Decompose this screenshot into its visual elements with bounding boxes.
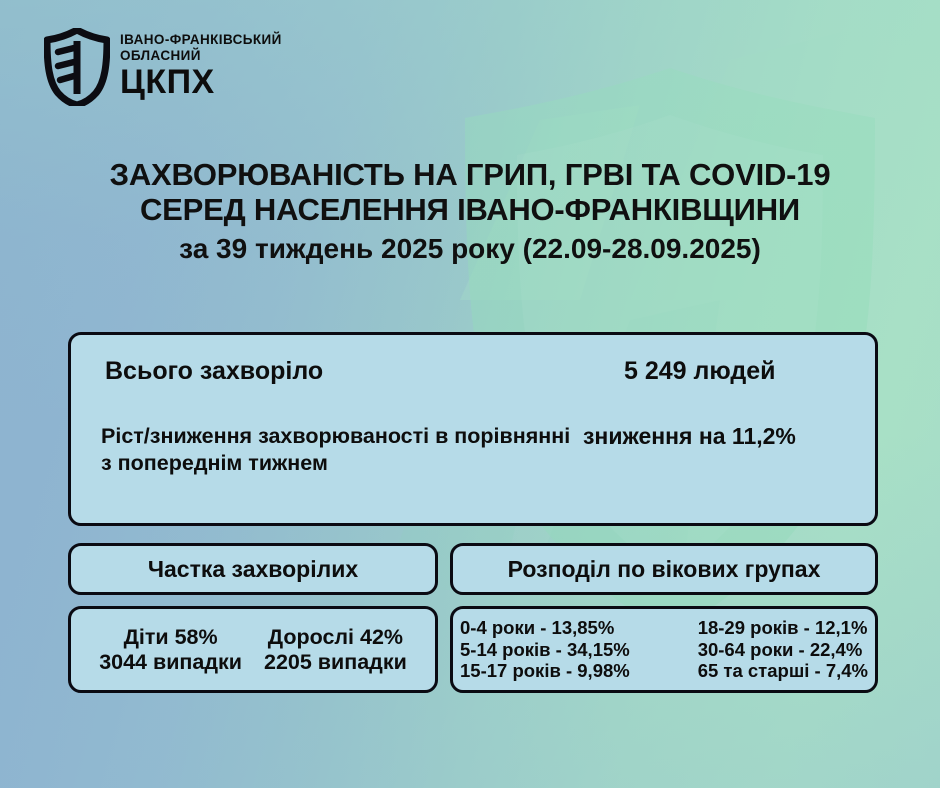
share-children: Діти 58% 3044 випадки [99, 625, 242, 673]
age-item: 18-29 років - 12,1% [698, 617, 868, 638]
share-section-header: Частка захворілих [68, 543, 438, 595]
adults-cases: 2205 випадки [264, 650, 407, 674]
title-line-2: СЕРЕД НАСЕЛЕННЯ ІВАНО-ФРАНКІВЩИНИ [0, 193, 940, 228]
trend-label: Ріст/зниження захворюваності в порівнянн… [101, 423, 571, 476]
total-cases-row: Всього захворіло 5 249 людей [71, 349, 875, 393]
logo-line-2: ОБЛАСНИЙ [120, 48, 282, 64]
children-percent: Діти 58% [99, 625, 242, 649]
page-title: ЗАХВОРЮВАНІСТЬ НА ГРИП, ГРВІ ТА COVID-19… [0, 158, 940, 265]
summary-panel: Всього захворіло 5 249 людей Ріст/знижен… [68, 332, 878, 526]
age-groups-column-left: 0-4 роки - 13,85% 5-14 років - 34,15% 15… [460, 617, 630, 681]
ages-section-header: Розподіл по вікових групах [450, 543, 878, 595]
logo-line-1: ІВАНО-ФРАНКІВСЬКИЙ [120, 32, 282, 48]
share-grid: Діти 58% 3044 випадки Дорослі 42% 2205 в… [99, 625, 407, 673]
age-item: 15-17 років - 9,98% [460, 660, 630, 681]
logo-abbreviation: ЦКПХ [120, 65, 282, 100]
title-line-3-period: за 39 тиждень 2025 року (22.09-28.09.202… [0, 232, 940, 265]
title-line-1: ЗАХВОРЮВАНІСТЬ НА ГРИП, ГРВІ ТА COVID-19 [0, 158, 940, 193]
age-item: 0-4 роки - 13,85% [460, 617, 630, 638]
share-panel: Діти 58% 3044 випадки Дорослі 42% 2205 в… [68, 606, 438, 693]
age-groups-panel: 0-4 роки - 13,85% 5-14 років - 34,15% 15… [450, 606, 878, 693]
trend-value: зниження на 11,2% [583, 423, 796, 450]
infographic-poster: ІВАНО-ФРАНКІВСЬКИЙ ОБЛАСНИЙ ЦКПХ ЗАХВОРЮ… [0, 0, 940, 788]
share-adults: Дорослі 42% 2205 випадки [264, 625, 407, 673]
age-groups-column-right: 18-29 років - 12,1% 30-64 роки - 22,4% 6… [698, 617, 868, 681]
age-item: 5-14 років - 34,15% [460, 639, 630, 660]
total-cases-label: Всього захворіло [105, 357, 323, 386]
adults-percent: Дорослі 42% [264, 625, 407, 649]
total-cases-value: 5 249 людей [624, 357, 776, 386]
ages-header-label: Розподіл по вікових групах [508, 556, 821, 583]
children-cases: 3044 випадки [99, 650, 242, 674]
organization-logo: ІВАНО-ФРАНКІВСЬКИЙ ОБЛАСНИЙ ЦКПХ [44, 28, 282, 106]
age-item: 30-64 роки - 22,4% [698, 639, 868, 660]
age-groups-grid: 0-4 роки - 13,85% 5-14 років - 34,15% 15… [460, 617, 868, 681]
shield-heart-icon [44, 28, 110, 106]
age-item: 65 та старші - 7,4% [698, 660, 868, 681]
share-header-label: Частка захворілих [148, 556, 358, 583]
